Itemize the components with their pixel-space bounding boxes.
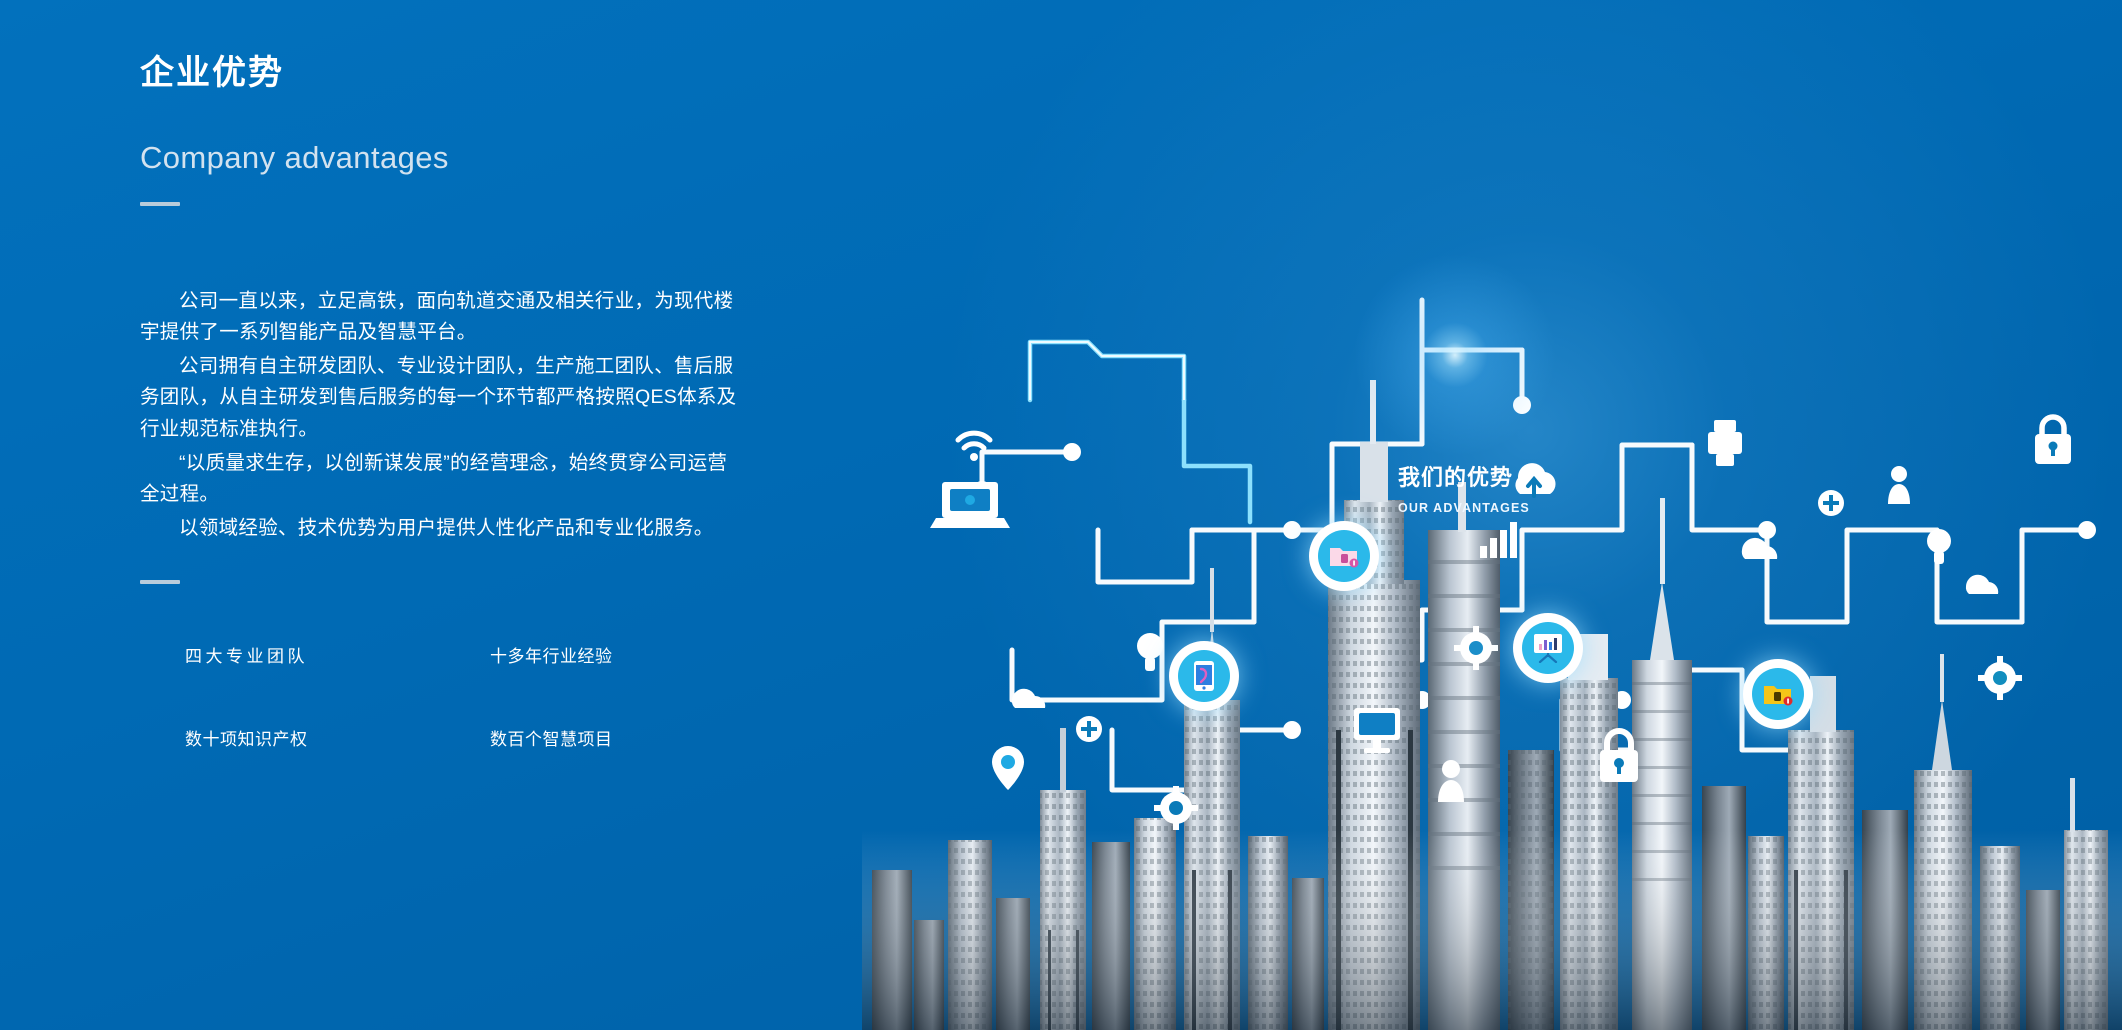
lightbulb-icon [1137, 633, 1163, 671]
bar-signal-icon [1480, 522, 1517, 558]
folder-label-en: OUR ADVANTAGES [1398, 501, 1628, 515]
person-icon [1888, 466, 1910, 504]
body-copy: 公司一直以来，立足高铁，面向轨道交通及相关行业，为现代楼宇提供了一系列智能产品及… [140, 286, 740, 545]
page-title-en: Company advantages [140, 139, 940, 176]
person-icon [1438, 760, 1464, 802]
badge-phone-call [1178, 650, 1230, 702]
monitor-icon [1354, 708, 1400, 753]
printer-icon [1708, 420, 1742, 466]
paragraph: 公司一直以来，立足高铁，面向轨道交通及相关行业，为现代楼宇提供了一系列智能产品及… [140, 286, 740, 349]
stat-item: 十多年行业经验 [490, 642, 795, 667]
lightbulb-icon [1927, 529, 1951, 564]
cloud-upload-icon [1515, 463, 1555, 496]
wifi-icon [958, 433, 990, 461]
title-divider [140, 202, 180, 206]
location-pin-icon [992, 746, 1024, 790]
phone-call-icon [1191, 661, 1217, 691]
plus-node-icon [1818, 490, 1844, 516]
gear-icon [1454, 626, 1498, 670]
plus-node-icon [1076, 716, 1102, 742]
stat-item: 四大专业团队 [185, 642, 490, 667]
folder-lock-pink-icon [1329, 543, 1359, 569]
stat-item: 数百个智慧项目 [490, 725, 795, 750]
paragraph: “以质量求生存，以创新谋发展”的经营理念，始终贯穿公司运营全过程。 [140, 448, 740, 511]
presentation-chart-icon [1532, 633, 1564, 663]
folder-label: 我们的优势 OUR ADVANTAGES [1398, 460, 1628, 515]
glow-burst [1340, 240, 1570, 470]
badge-folder-lock-yellow [1752, 668, 1804, 720]
page-title-cn: 企业优势 [140, 52, 940, 95]
badge-presentation-chart [1522, 622, 1574, 674]
cloud-icon [1966, 575, 1998, 594]
paragraph: 公司拥有自主研发团队、专业设计团队，生产施工团队、售后服务团队，从自主研发到售后… [140, 351, 740, 446]
paragraph: 以领域经验、技术优势为用户提供人性化产品和专业化服务。 [140, 513, 740, 545]
folder-label-cn: 我们的优势 [1398, 460, 1628, 492]
cloud-icon [1742, 538, 1777, 559]
cloud-icon [1012, 689, 1045, 708]
page-root: 我们的优势 OUR ADVANTAGES [0, 0, 2122, 1030]
folder-lock-yellow-icon [1763, 681, 1793, 707]
body-divider [140, 580, 180, 584]
laptop-icon [930, 482, 1010, 528]
padlock-icon [1600, 731, 1638, 782]
smart-city-illustration [862, 230, 2122, 1030]
stats-grid: 四大专业团队 十多年行业经验 数十项知识产权 数百个智慧项目 [140, 642, 940, 750]
text-column: 企业优势 Company advantages 公司一直以来，立足高铁，面向轨道… [140, 52, 940, 750]
badge-folder-lock-pink [1318, 530, 1370, 582]
padlock-icon [2035, 417, 2071, 464]
folder-outline [1030, 342, 1250, 522]
gear-icon [1978, 656, 2022, 700]
stat-item: 数十项知识产权 [185, 725, 490, 750]
gear-icon [1154, 786, 1198, 830]
